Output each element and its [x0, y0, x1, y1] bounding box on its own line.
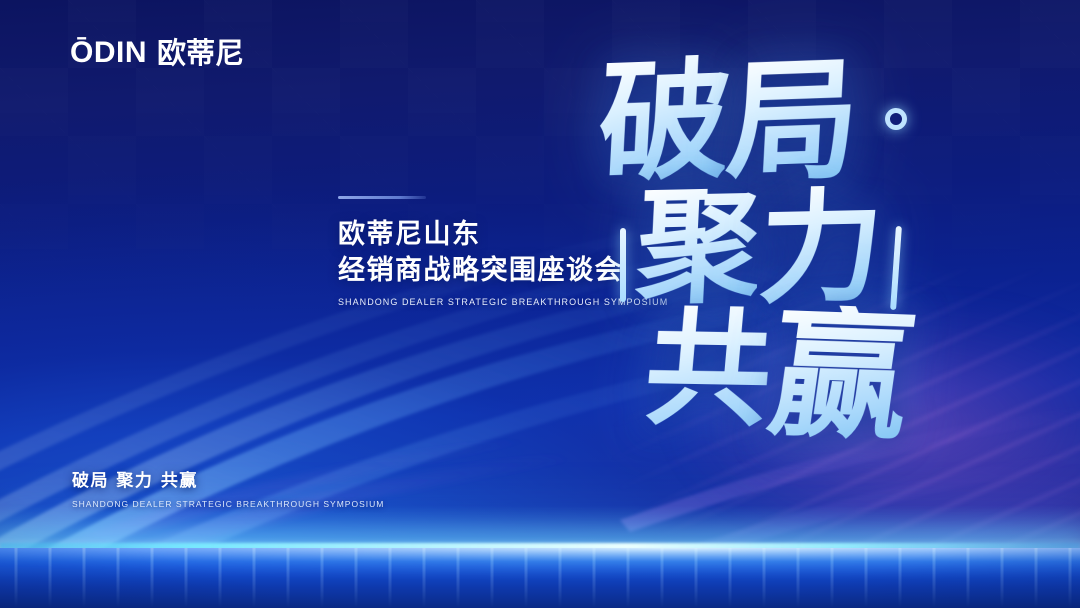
- bottom-slogan-chinese: 破局 聚力 共赢: [72, 466, 384, 491]
- brand-logo-latin: ŌDIN: [70, 38, 147, 68]
- brand-logo-chinese: 欧蒂尼: [157, 39, 244, 68]
- brand-logo: ŌDIN 欧蒂尼: [70, 38, 244, 68]
- bottom-slogan-english: SHANDONG DEALER STRATEGIC BREAKTHROUGH S…: [72, 499, 384, 509]
- slogan-char-ying: 赢: [762, 304, 921, 449]
- slogan-char-gong: 共: [639, 305, 777, 447]
- slogan-calligraphy: 破 局 聚 力 共 赢: [585, 48, 1005, 468]
- slogan-char-ju: 局: [723, 54, 858, 190]
- circle-accent-icon: [885, 108, 907, 130]
- event-backdrop-poster: ŌDIN 欧蒂尼 欧蒂尼山东 经销商战略突围座谈会 SHANDONG DEALE…: [0, 0, 1080, 608]
- slogan-row-1: 破 局: [599, 56, 855, 188]
- vertical-bar-left-accent: [620, 228, 626, 302]
- stage-floor: [0, 548, 1080, 608]
- title-divider-rule: [338, 196, 426, 199]
- slogan-char-juu: 聚: [634, 185, 762, 312]
- slogan-char-po: 破: [595, 54, 730, 190]
- slogan-row-2: 聚 力: [637, 186, 881, 310]
- floor-reflection-glow: [0, 548, 1080, 582]
- slogan-row-3: 共 赢: [645, 306, 911, 446]
- bottom-slogan-lockup: 破局 聚力 共赢 SHANDONG DEALER STRATEGIC BREAK…: [72, 466, 384, 509]
